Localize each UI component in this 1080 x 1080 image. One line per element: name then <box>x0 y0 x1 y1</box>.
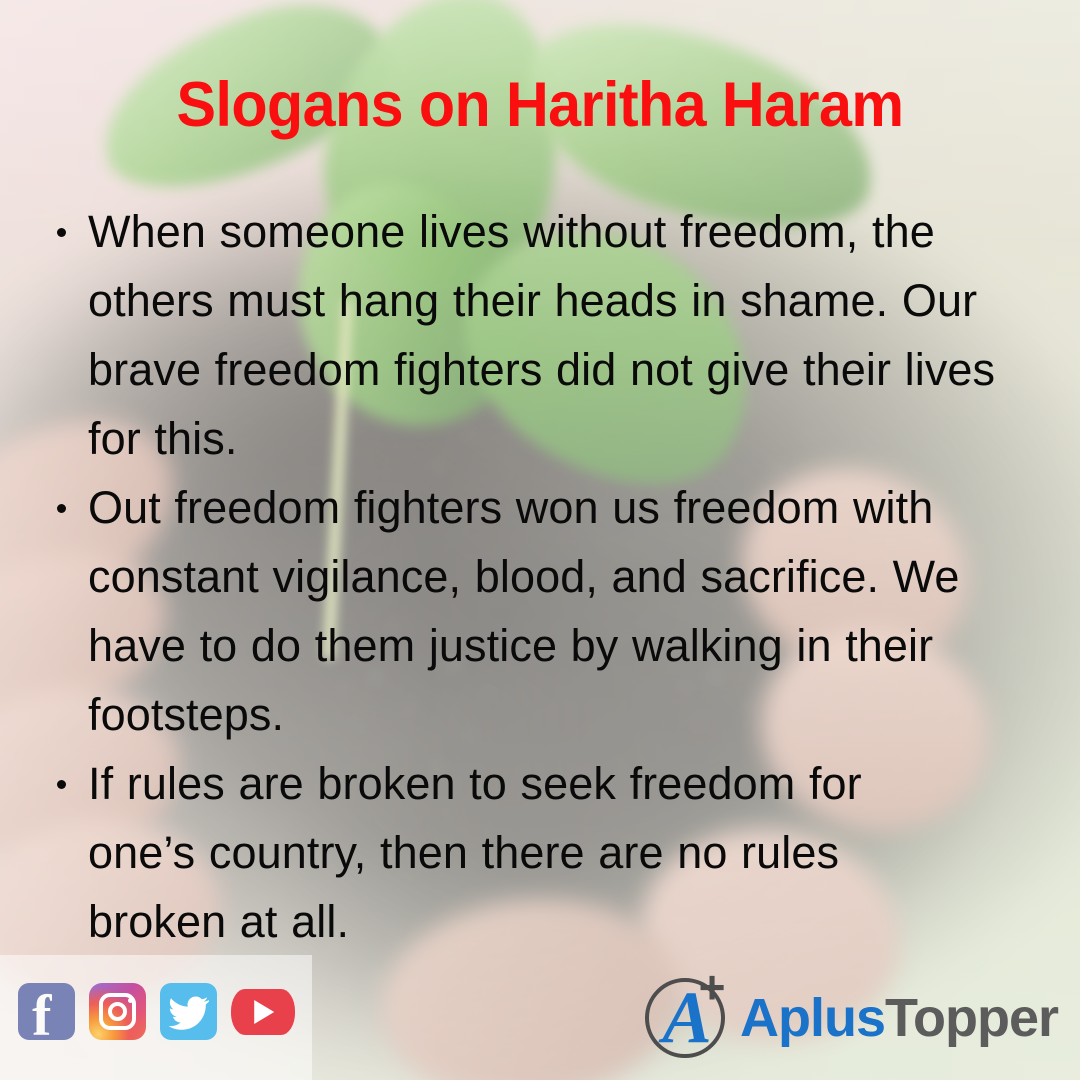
aplustopper-logo[interactable]: A + AplusTopper <box>639 970 1058 1066</box>
list-item: If rules are broken to seek freedom for … <box>52 749 957 956</box>
twitter-icon[interactable] <box>160 983 217 1040</box>
facebook-letter: f <box>32 992 62 1048</box>
youtube-icon[interactable] <box>231 989 295 1035</box>
poster-content: Slogans on Haritha Haram When someone li… <box>0 0 1080 1080</box>
twitter-bird-glyph <box>169 996 209 1030</box>
list-item: Out freedom fighters won us freedom with… <box>52 473 977 749</box>
social-media-panel: f <box>0 955 312 1080</box>
logo-wordmark: AplusTopper <box>740 991 1058 1045</box>
logo-mark: A + <box>639 970 735 1066</box>
play-triangle-icon <box>254 1000 274 1024</box>
slogan-list: When someone lives without freedom, the … <box>52 197 1052 956</box>
list-item: When someone lives without freedom, the … <box>52 197 1052 473</box>
logo-word-secondary: Topper <box>885 988 1058 1048</box>
social-icon-row: f <box>18 983 295 1040</box>
instagram-icon[interactable] <box>89 983 146 1040</box>
instagram-lens <box>108 1002 127 1021</box>
instagram-flash <box>128 998 133 1003</box>
page-title: Slogans on Haritha Haram <box>32 74 1047 137</box>
logo-word-primary: Aplus <box>740 988 885 1048</box>
poster-canvas: Slogans on Haritha Haram When someone li… <box>0 0 1080 1080</box>
plus-icon: + <box>697 972 727 1002</box>
facebook-icon[interactable]: f <box>18 983 75 1040</box>
